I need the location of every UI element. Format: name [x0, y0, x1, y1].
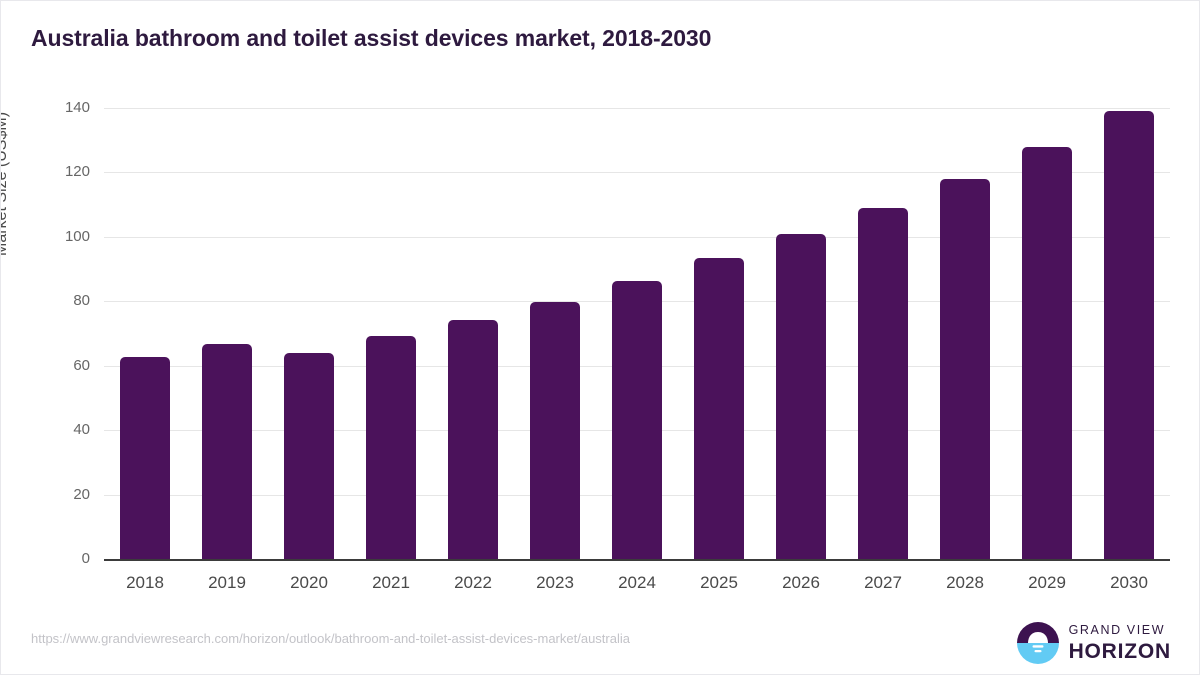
bar[interactable]	[858, 208, 908, 559]
bar[interactable]	[612, 281, 662, 559]
x-axis-tick-label: 2019	[187, 573, 267, 593]
gridline	[104, 172, 1170, 173]
bar[interactable]	[366, 336, 416, 559]
plot-area	[104, 108, 1170, 559]
source-url[interactable]: https://www.grandviewresearch.com/horizo…	[31, 631, 630, 646]
bar[interactable]	[1022, 147, 1072, 559]
bar[interactable]	[448, 320, 498, 559]
grand-view-horizon-logo[interactable]: GRAND VIEW HORIZON	[1016, 621, 1171, 665]
bar[interactable]	[940, 179, 990, 559]
y-axis-title: Market Size (US$M)	[0, 112, 11, 256]
y-axis-tick-label: 80	[73, 292, 90, 309]
x-axis-tick-label: 2024	[597, 573, 677, 593]
y-axis-tick-label: 140	[65, 99, 90, 116]
x-axis-tick-label: 2020	[269, 573, 349, 593]
y-axis-tick-label: 60	[73, 357, 90, 374]
logo-line-horizon: HORIZON	[1069, 641, 1171, 662]
bar[interactable]	[694, 258, 744, 559]
y-axis-tick-label: 120	[65, 163, 90, 180]
bar[interactable]	[284, 353, 334, 559]
x-axis-tick-label: 2028	[925, 573, 1005, 593]
x-axis-line	[104, 559, 1170, 561]
x-axis-tick-label: 2026	[761, 573, 841, 593]
y-axis-tick-label: 0	[82, 550, 90, 567]
gridline	[104, 108, 1170, 109]
y-axis-tick-label: 20	[73, 486, 90, 503]
x-axis-tick-label: 2025	[679, 573, 759, 593]
gridline	[104, 237, 1170, 238]
x-axis-tick-label: 2021	[351, 573, 431, 593]
x-axis-tick-label: 2029	[1007, 573, 1087, 593]
bar[interactable]	[776, 234, 826, 559]
x-axis-tick-label: 2030	[1089, 573, 1169, 593]
x-axis-tick-label: 2023	[515, 573, 595, 593]
x-axis-tick-label: 2018	[105, 573, 185, 593]
logo-line-grand-view: GRAND VIEW	[1069, 624, 1171, 637]
bar[interactable]	[1104, 111, 1154, 559]
y-axis-tick-label: 100	[65, 228, 90, 245]
bar[interactable]	[202, 344, 252, 559]
x-axis-tick-label: 2027	[843, 573, 923, 593]
x-axis-tick-label: 2022	[433, 573, 513, 593]
chart-page: Australia bathroom and toilet assist dev…	[0, 0, 1200, 675]
logo-wordmark: GRAND VIEW HORIZON	[1069, 624, 1171, 662]
horizon-logo-icon	[1016, 621, 1060, 665]
y-axis-tick-label: 40	[73, 421, 90, 438]
bar[interactable]	[530, 302, 580, 559]
page-title: Australia bathroom and toilet assist dev…	[31, 25, 711, 52]
bar[interactable]	[120, 357, 170, 559]
